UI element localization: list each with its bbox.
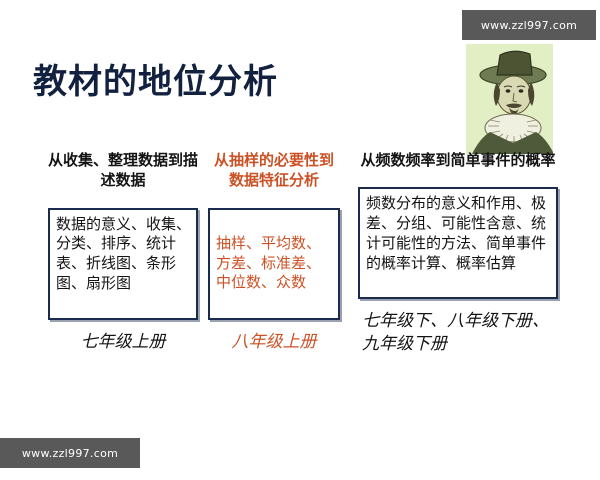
column-grade7to9-volume2: 从频数频率到简单事件的概率 频数分布的意义和作用、极差、分组、可能性含意、统计可… xyxy=(358,150,558,356)
francis-bacon-portrait-image xyxy=(466,44,553,154)
page-title: 教材的地位分析 xyxy=(33,64,278,101)
watermark-bottom-left: www.zzl997.com xyxy=(0,438,140,468)
column-header-2: 从抽样的必要性到数据特征分析 xyxy=(208,150,340,191)
column-grade7-volume1: 从收集、整理数据到描述数据 数据的意义、收集、分类、排序、统计表、折线图、条形图… xyxy=(48,150,198,353)
watermark-top-right: www.zzl997.com xyxy=(462,10,596,40)
column-footer-2: 八年级上册 xyxy=(208,331,340,354)
portrait-illustration xyxy=(466,44,553,154)
content-box-2-text: 抽样、平均数、方差、标准差、中位数、众数 xyxy=(216,234,333,293)
watermark-bottom-text: www.zzl997.com xyxy=(22,447,118,460)
content-box-3-text: 频数分布的意义和作用、极差、分组、可能性含意、统计可能性的方法、简单事件的概率计… xyxy=(366,194,551,273)
content-box-1-text: 数据的意义、收集、分类、排序、统计表、折线图、条形图、扇形图 xyxy=(56,215,191,294)
slide-canvas: www.zzl997.com xyxy=(0,0,600,480)
watermark-top-text: www.zzl997.com xyxy=(481,19,577,32)
column-header-1: 从收集、整理数据到描述数据 xyxy=(48,150,198,191)
column-footer-3: 七年级下、八年级下册、九年级下册 xyxy=(358,310,558,356)
content-box-2: 抽样、平均数、方差、标准差、中位数、众数 xyxy=(208,208,340,320)
column-grade8-volume1: 从抽样的必要性到数据特征分析 抽样、平均数、方差、标准差、中位数、众数 八年级上… xyxy=(208,150,340,353)
content-box-3: 频数分布的意义和作用、极差、分组、可能性含意、统计可能性的方法、简单事件的概率计… xyxy=(358,187,558,299)
column-header-3: 从频数频率到简单事件的概率 xyxy=(358,150,558,170)
content-box-1: 数据的意义、收集、分类、排序、统计表、折线图、条形图、扇形图 xyxy=(48,208,198,320)
column-footer-1: 七年级上册 xyxy=(48,331,198,354)
